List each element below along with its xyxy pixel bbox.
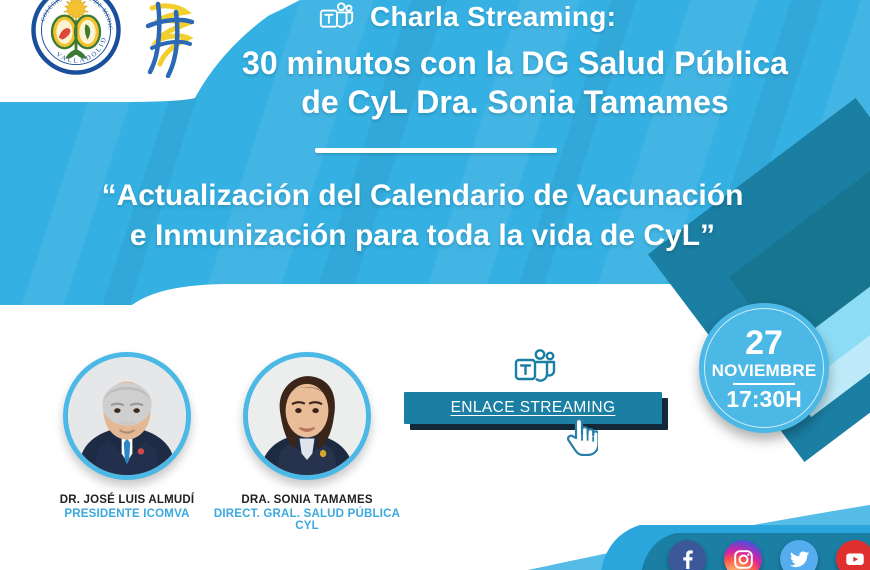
instagram-icon[interactable] bbox=[724, 540, 762, 570]
speaker-card-1: DR. JOSÉ LUIS ALMUDÍ PRESIDENTE ICOMVA bbox=[48, 352, 206, 520]
speaker-name: DR. JOSÉ LUIS ALMUDÍ bbox=[48, 494, 206, 506]
microsoft-teams-icon bbox=[512, 348, 558, 388]
speaker-card-2: DRA. SONIA TAMAMES DIRECT. GRAL. SALUD P… bbox=[212, 352, 402, 532]
eyebrow-text: Charla Streaming: bbox=[370, 1, 700, 33]
badge-month: NOVIEMBRE bbox=[712, 362, 817, 379]
avatar bbox=[243, 352, 371, 480]
streaming-link-area: ENLACE STREAMING bbox=[404, 392, 662, 424]
icomva-seal-logo: COLEGIO OFICIAL DE MEDICOS DE LA PROVINC… bbox=[28, 0, 124, 78]
speaker-role: PRESIDENTE ICOMVA bbox=[48, 508, 206, 520]
enlace-streaming-button[interactable]: ENLACE STREAMING bbox=[404, 392, 662, 424]
social-links bbox=[668, 540, 870, 570]
speaker-name: DRA. SONIA TAMAMES bbox=[212, 494, 402, 506]
badge-day: 27 bbox=[745, 326, 783, 360]
quote-line-2: e Inmunización para toda la vida de CyL” bbox=[35, 216, 810, 256]
badge-rule bbox=[733, 383, 795, 385]
badge-time: 17:30H bbox=[726, 388, 801, 411]
hand-pointer-cursor bbox=[564, 414, 598, 456]
quote-line-1: “Actualización del Calendario de Vacunac… bbox=[35, 176, 810, 216]
youtube-icon[interactable] bbox=[836, 540, 870, 570]
page-title: 30 minutos con la DG Salud Pública de Cy… bbox=[170, 44, 860, 122]
avatar bbox=[63, 352, 191, 480]
microsoft-teams-icon bbox=[318, 2, 356, 34]
event-flyer: COLEGIO OFICIAL DE MEDICOS DE LA PROVINC… bbox=[0, 0, 870, 570]
headline-line-1: 30 minutos con la DG Salud Pública bbox=[170, 44, 860, 83]
twitter-icon[interactable] bbox=[780, 540, 818, 570]
session-subtitle: “Actualización del Calendario de Vacunac… bbox=[35, 176, 810, 256]
title-divider bbox=[315, 148, 557, 153]
date-badge: 27 NOVIEMBRE 17:30H bbox=[699, 303, 829, 433]
speaker-role: DIRECT. GRAL. SALUD PÚBLICA CYL bbox=[212, 508, 402, 532]
headline-line-2: de CyL Dra. Sonia Tamames bbox=[170, 83, 860, 122]
facebook-icon[interactable] bbox=[668, 540, 706, 570]
